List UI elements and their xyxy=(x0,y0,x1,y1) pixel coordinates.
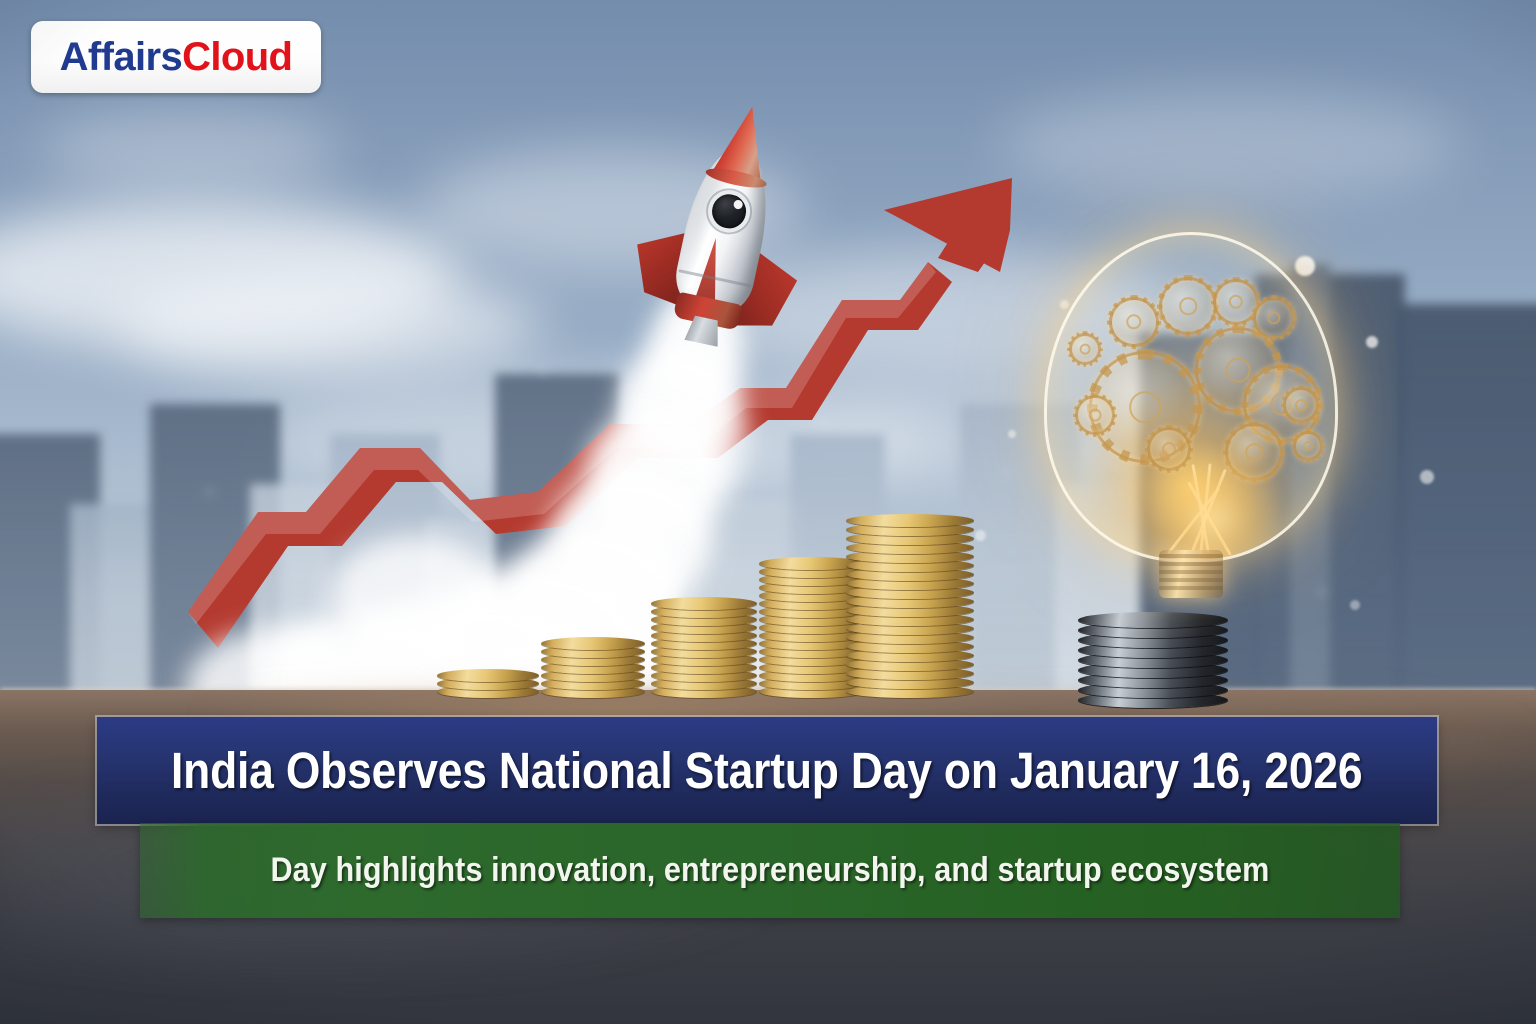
promotional-banner-image: AffairsCloud India Observes National Sta… xyxy=(0,0,1536,1024)
bulb-glass xyxy=(1044,232,1338,562)
logo-text-affairs: Affairs xyxy=(60,35,183,79)
logo-text: AffairsCloud xyxy=(60,37,293,77)
title-banner: India Observes National Startup Day on J… xyxy=(97,717,1437,824)
affairscloud-logo[interactable]: AffairsCloud xyxy=(31,21,321,93)
subtitle-banner: Day highlights innovation, entrepreneurs… xyxy=(140,823,1400,918)
logo-text-cloud: Cloud xyxy=(182,35,292,79)
coin-stack xyxy=(846,502,974,698)
light-bulb-icon xyxy=(1026,232,1356,632)
coin-stack xyxy=(541,630,645,698)
subheadline-text: Day highlights innovation, entrepreneurs… xyxy=(271,851,1270,890)
bulb-screw-neck xyxy=(1159,550,1223,598)
coin-stack xyxy=(437,668,539,698)
headline-text: India Observes National Startup Day on J… xyxy=(171,741,1362,800)
coin-stack xyxy=(651,586,757,698)
